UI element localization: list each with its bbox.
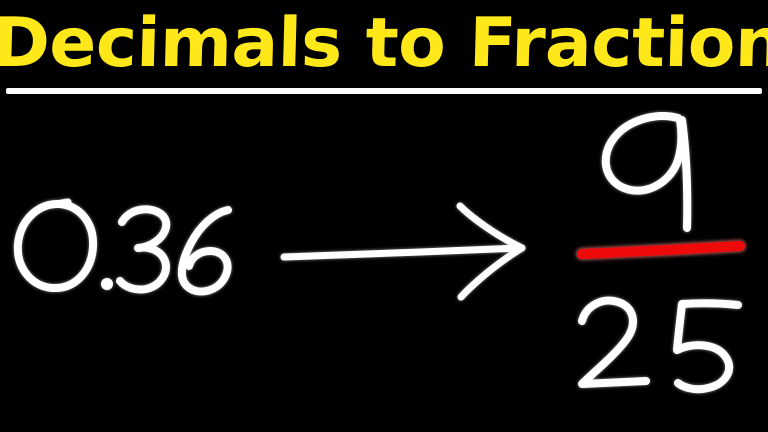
digit-three-stroke [120, 209, 166, 289]
fraction-numerator-text: 9 [0, 96, 1, 97]
digit-five-stroke [677, 303, 738, 389]
slide-canvas: Decimals to Fractions 0.36 [0, 0, 768, 432]
transform-arrow-icon [275, 201, 535, 321]
digit-zero-tail [56, 202, 68, 204]
title-underline-rule [6, 88, 762, 94]
arrow-head-lower-barb [461, 248, 522, 297]
fraction-bar [582, 246, 740, 254]
fraction-denominator [582, 301, 738, 390]
decimal-value-text: 0.36 [0, 96, 1, 97]
arrow-head-upper-barb [460, 206, 522, 248]
fraction-bar-stroke [582, 246, 740, 254]
digit-zero-stroke [18, 204, 93, 288]
fraction-numerator [606, 116, 688, 228]
digit-nine-loop [606, 116, 682, 191]
worked-example-area: 0.36 right-arrow [0, 96, 768, 432]
equation-text: 0.36 -> 9/25 [0, 96, 1, 97]
digit-two-stroke [582, 301, 646, 384]
page-title: Decimals to Fractions [0, 2, 768, 86]
decimal-point [101, 278, 113, 290]
arrow-shaft [284, 248, 519, 257]
fraction-denominator-text: 25 [0, 96, 1, 97]
decimal-value-handwriting [8, 196, 243, 306]
title-bar: Decimals to Fractions [0, 0, 768, 88]
fraction-result [570, 106, 760, 396]
arrow-label: right-arrow [0, 96, 1, 97]
digit-six-stroke [182, 210, 228, 292]
digit-nine-descender [682, 120, 687, 228]
